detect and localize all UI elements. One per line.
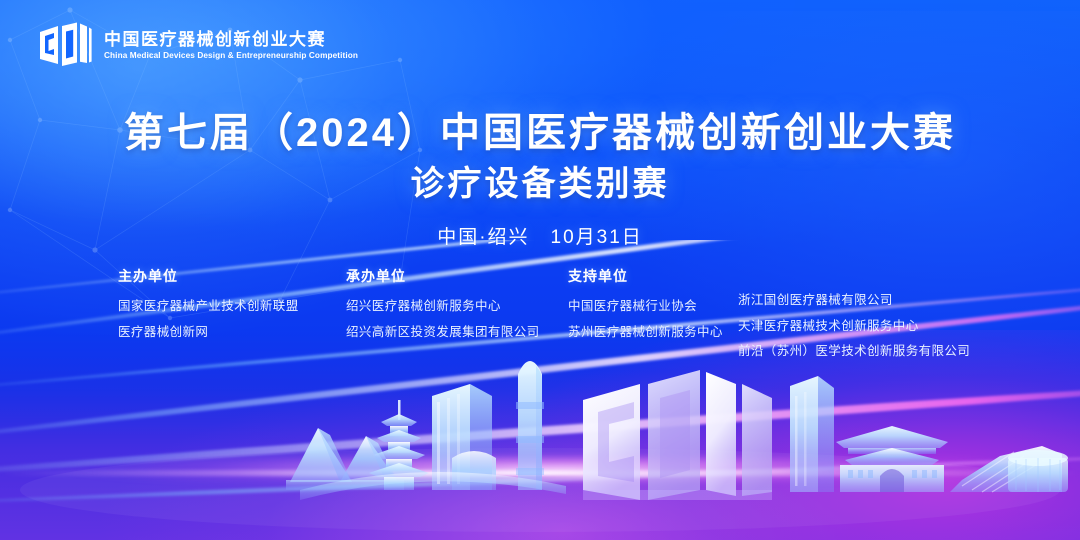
organizer-item: 前沿（苏州）医学技术创新服务有限公司 [738,339,998,365]
organizer-item: 浙江国创医疗器械有限公司 [738,288,998,314]
organizer-item: 苏州医疗器械创新服务中心 [568,320,738,346]
page-subtitle-category: 诊疗设备类别赛 [0,162,1080,206]
organizer-item: 天津医疗器械技术创新服务中心 [738,314,998,340]
brand-name-en: China Medical Devices Design & Entrepren… [104,50,358,61]
organizer-column-host: 主办单位 国家医疗器械产业技术创新联盟 医疗器械创新网 [118,266,346,345]
open-book-door-logo-icon [38,22,92,68]
page-title: 第七届（2024）中国医疗器械创新创业大赛 [0,108,1080,158]
organizer-column-supporter: 支持单位 中国医疗器械行业协会 苏州医疗器械创新服务中心 [568,266,738,345]
organizer-item: 国家医疗器械产业技术创新联盟 [118,294,346,320]
event-poster: 中国医疗器械创新创业大赛 China Medical Devices Desig… [0,0,1080,540]
organizer-heading: 支持单位 [568,266,738,286]
organizer-item: 绍兴高新区投资发展集团有限公司 [346,320,568,346]
organizer-item: 中国医疗器械行业协会 [568,294,738,320]
organizer-sections: 主办单位 国家医疗器械产业技术创新联盟 医疗器械创新网 承办单位 绍兴医疗器械创… [118,266,998,365]
organizer-column-coorganizer: 承办单位 绍兴医疗器械创新服务中心 绍兴高新区投资发展集团有限公司 [346,266,568,345]
organizer-column-supporter-extra: 浙江国创医疗器械有限公司 天津医疗器械技术创新服务中心 前沿（苏州）医学技术创新… [738,266,998,365]
organizer-heading: 承办单位 [346,266,568,286]
organizer-item: 绍兴医疗器械创新服务中心 [346,294,568,320]
title-block: 第七届（2024）中国医疗器械创新创业大赛 诊疗设备类别赛 中国·绍兴 10月3… [0,108,1080,249]
organizer-heading: 主办单位 [118,266,346,286]
brand-name-cn: 中国医疗器械创新创业大赛 [104,29,366,50]
organizer-item: 医疗器械创新网 [118,320,346,346]
brand-logo[interactable]: 中国医疗器械创新创业大赛 China Medical Devices Desig… [38,22,366,68]
event-location-date: 中国·绍兴 10月31日 [0,222,1080,249]
